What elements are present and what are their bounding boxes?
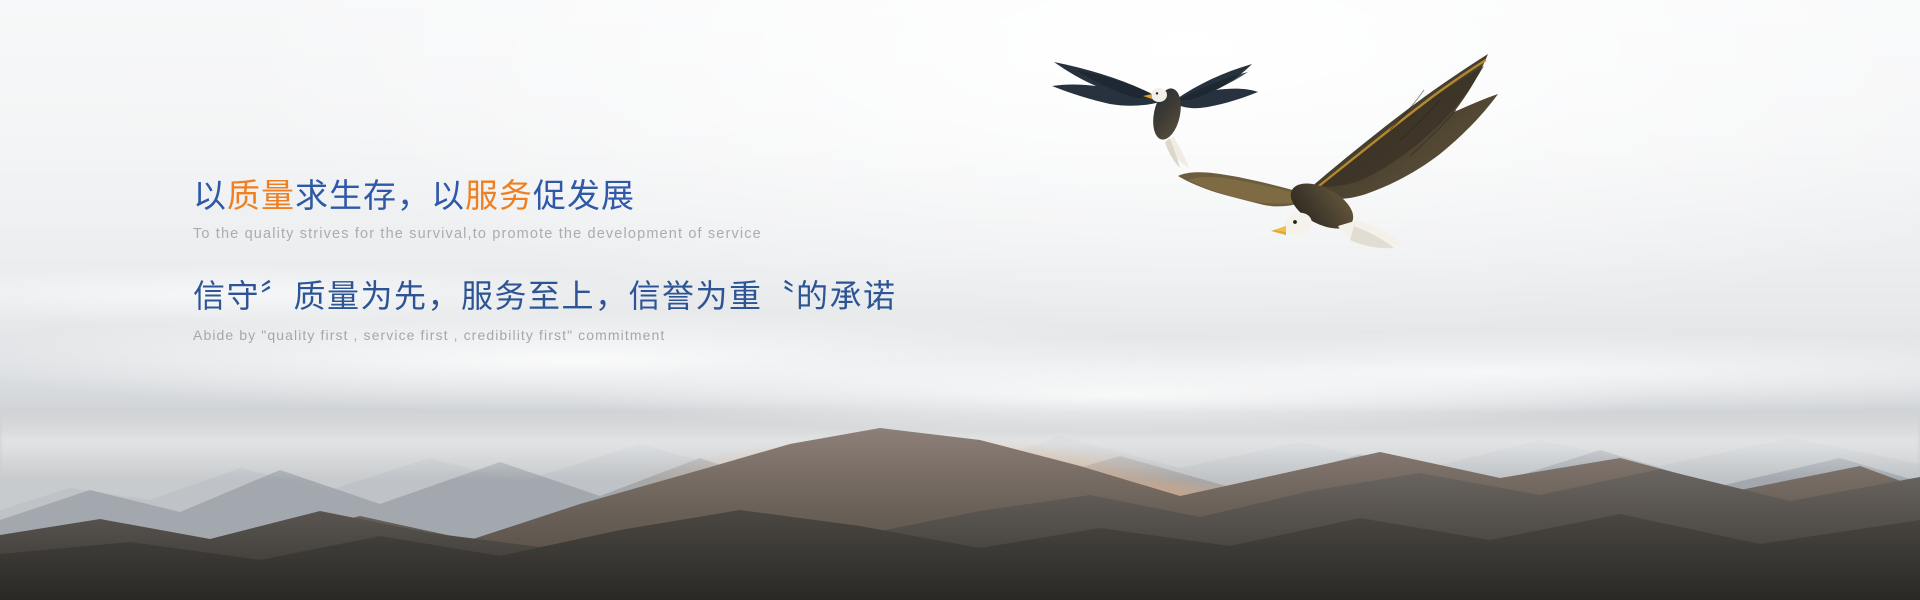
flying-eagle-icon bbox=[1052, 62, 1258, 168]
slogan-block: 以质量求生存，以服务促发展 To the quality strives for… bbox=[193, 176, 1173, 344]
hero-banner: 以质量求生存，以服务促发展 To the quality strives for… bbox=[0, 0, 1920, 600]
slogan-1-accent-service: 服务 bbox=[465, 177, 533, 214]
slogan-1-part-a: 以 bbox=[193, 177, 227, 214]
slogan-1-part-c: 促发展 bbox=[533, 177, 635, 214]
slogan-1-part-b: 求生存，以 bbox=[295, 177, 465, 214]
slogan-1-accent-quality: 质量 bbox=[227, 177, 295, 214]
slogan-spacer bbox=[193, 243, 1173, 276]
slogan-2-headline: 信守〞质量为先，服务至上，信誉为重〝的承诺 bbox=[193, 276, 1173, 316]
slogan-1-headline: 以质量求生存，以服务促发展 bbox=[193, 176, 1173, 216]
slogan-2-subtitle: Abide by "quality first , service first … bbox=[193, 326, 1173, 344]
slogan-1-subtitle: To the quality strives for the survival,… bbox=[193, 225, 1173, 243]
mountain-layer-foreground bbox=[0, 470, 1920, 600]
